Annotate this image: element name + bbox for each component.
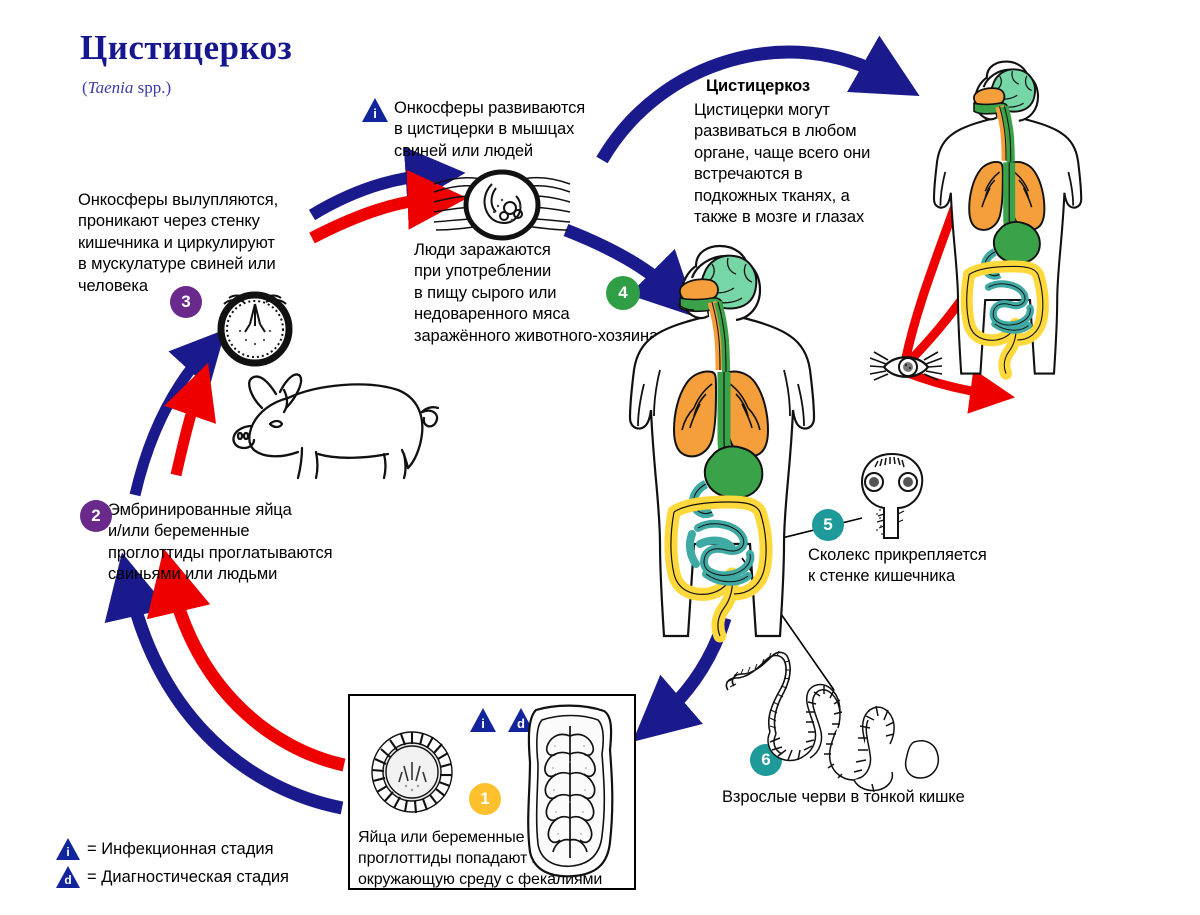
callout-cysticercosis-body: Цистицерки могут развиваться в любом орг… [694, 100, 906, 229]
human-digestive-system-icon [600, 244, 840, 644]
legend-infective-text: = Инфекционная стадия [87, 840, 274, 859]
callout-embryonated-eggs: Эмбринированные яйца и/или беременные пр… [108, 500, 364, 586]
infective-stage-letter: i [362, 98, 388, 122]
gravid-proglottid-icon [522, 702, 618, 880]
legend-row-diagnostic: d = Диагностическая стадия [56, 866, 289, 888]
diagnostic-stage-flag-icon-legend: d [56, 866, 80, 888]
infective-stage-letter-box: i [470, 708, 496, 732]
callout-cysticercosis-heading: Цистицеркоз [706, 76, 810, 97]
arrow-eggs-to-oncospheres-red [176, 392, 198, 475]
infective-stage-flag-icon: i [362, 98, 388, 122]
taenia-egg-icon [214, 284, 296, 368]
human-digestive-system-icon-secondary [910, 60, 1110, 380]
callout-oncospheres-hatch: Онкосферы вылупляются, проникают через с… [78, 190, 333, 297]
infective-stage-flag-icon-box: i [470, 708, 496, 732]
egg-micrograph-icon [366, 726, 458, 818]
legend-row-infective: i = Инфекционная стадия [56, 838, 274, 860]
arrow-eggs-to-oncospheres-blue [135, 352, 205, 495]
callout-oncospheres-develop: Онкосферы развиваются в цистицерки в мыш… [394, 98, 629, 162]
cysticercus-in-muscle-icon [432, 162, 572, 248]
legend-diagnostic-text: = Диагностическая стадия [87, 868, 289, 887]
badge-2: 2 [80, 500, 112, 532]
badge-3: 3 [170, 286, 202, 318]
arrow-environment-to-host-red [172, 584, 344, 765]
lifecycle-diagram: Цистицеркоз (Taenia spp.) [0, 0, 1200, 915]
legend-diagnostic-letter: d [56, 866, 80, 888]
legend-infective-letter: i [56, 838, 80, 860]
pig-icon [218, 368, 448, 480]
badge-1: 1 [469, 783, 501, 815]
scolex-icon [846, 448, 938, 544]
adult-tapeworm-icon [714, 646, 944, 794]
infective-stage-flag-icon-legend: i [56, 838, 80, 860]
